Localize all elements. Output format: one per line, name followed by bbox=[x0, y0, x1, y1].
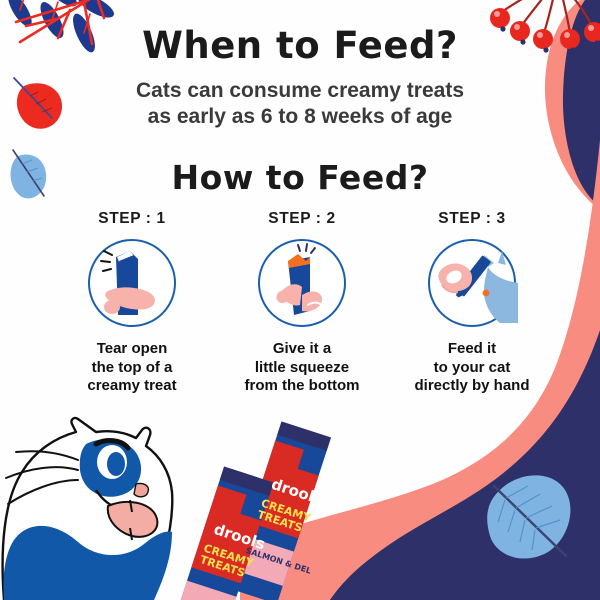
infographic-content: When to Feed? Cats can consume creamy tr… bbox=[0, 0, 600, 600]
hand-squeezing-treat-tube-icon bbox=[256, 237, 348, 329]
page-title-how-to-feed: How to Feed? bbox=[0, 158, 600, 197]
hand-feeding-cat-icon bbox=[426, 237, 518, 329]
subtitle-line-2: as early as 6 to 8 weeks of age bbox=[0, 104, 600, 130]
step-1-caption: Tear open the top of a creamy treat bbox=[87, 340, 176, 396]
page-title-when-to-feed: When to Feed? bbox=[0, 24, 600, 67]
steps-row: STEP : 1 Tear open the top of a creamy t… bbox=[52, 210, 552, 396]
step-3: STEP : 3 bbox=[392, 210, 552, 396]
step-2-caption: Give it a little squeeze from the bottom bbox=[245, 340, 360, 396]
subtitle-block: Cats can consume creamy treats as early … bbox=[0, 78, 600, 130]
step-1-label: STEP : 1 bbox=[98, 210, 165, 228]
step-2: STEP : 2 Give it a little squeeze from t… bbox=[222, 210, 382, 396]
hand-tearing-treat-tube-icon bbox=[86, 237, 178, 329]
infographic-canvas: drools CREAMY TREATS drools CREAMY TREAT… bbox=[0, 0, 600, 600]
step-3-caption: Feed it to your cat directly by hand bbox=[414, 340, 529, 396]
step-1: STEP : 1 Tear open the top of a creamy t… bbox=[52, 210, 212, 396]
step-3-label: STEP : 3 bbox=[438, 210, 505, 228]
subtitle-line-1: Cats can consume creamy treats bbox=[0, 78, 600, 104]
step-2-label: STEP : 2 bbox=[268, 210, 335, 228]
